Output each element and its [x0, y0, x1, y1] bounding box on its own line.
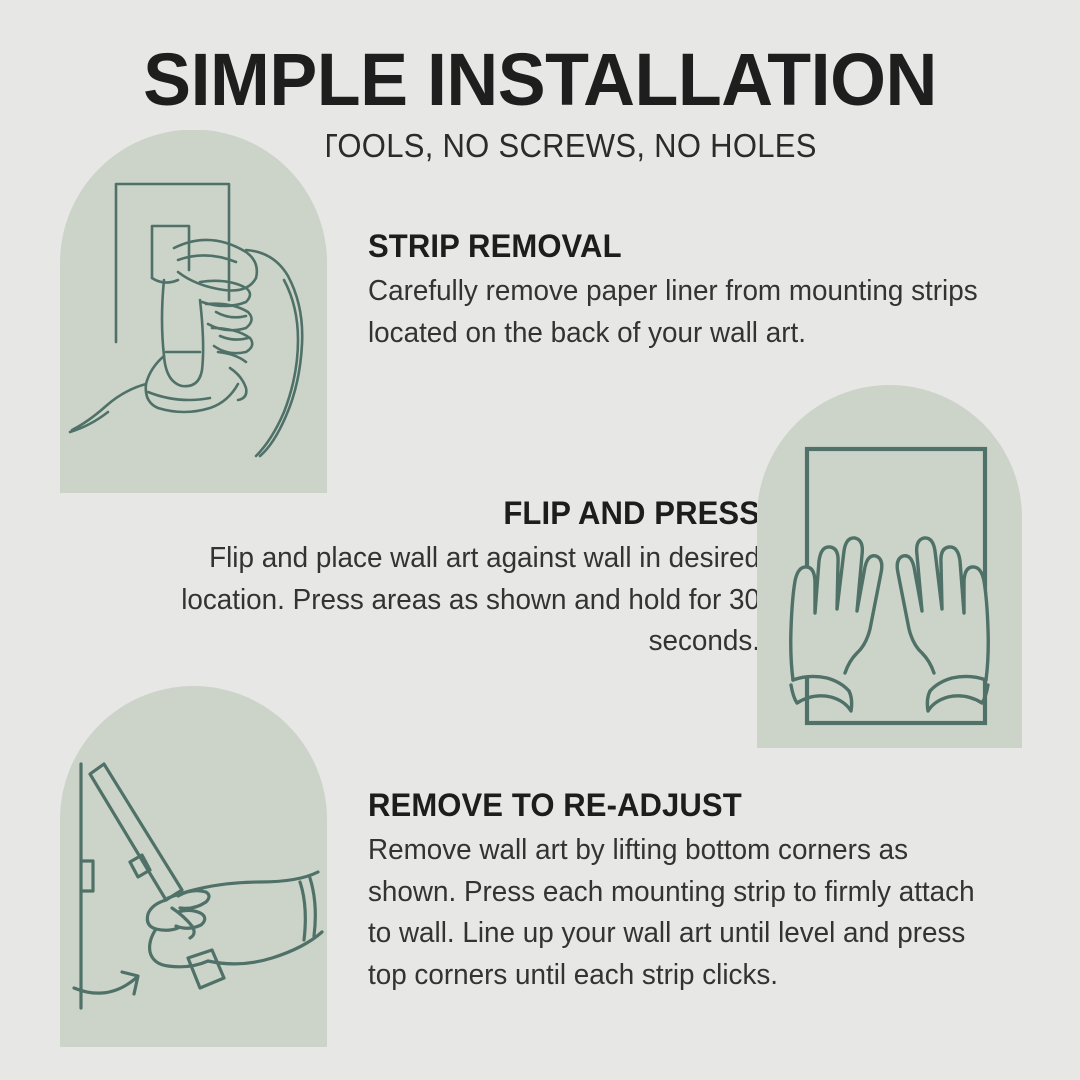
step-heading: REMOVE TO RE-ADJUST	[368, 787, 989, 824]
hand-lifting-frame-off-wall-icon	[60, 686, 327, 1047]
step-heading: STRIP REMOVAL	[368, 228, 989, 265]
two-hands-pressing-frame-icon	[757, 385, 1022, 748]
step-remove-to-readjust: REMOVE TO RE-ADJUST Remove wall art by l…	[368, 787, 1008, 997]
infographic-canvas: SIMPLE INSTALLATION NO TOOLS, NO SCREWS,…	[0, 0, 1080, 1080]
step-flip-and-press: FLIP AND PRESS Flip and place wall art a…	[112, 495, 760, 663]
step-strip-removal: STRIP REMOVAL Carefully remove paper lin…	[368, 228, 1008, 354]
step-body: Flip and place wall art against wall in …	[138, 538, 760, 663]
illustration-panel-remove-to-readjust	[60, 686, 327, 1047]
step-heading: FLIP AND PRESS	[131, 495, 760, 532]
step-body: Carefully remove paper liner from mounti…	[368, 271, 982, 355]
illustration-panel-flip-and-press	[757, 385, 1022, 748]
illustration-panel-strip-removal	[60, 130, 327, 493]
hand-peeling-liner-strip-icon	[60, 130, 327, 493]
page-title: SIMPLE INSTALLATION	[16, 0, 1064, 117]
step-body: Remove wall art by lifting bottom corner…	[368, 830, 982, 997]
